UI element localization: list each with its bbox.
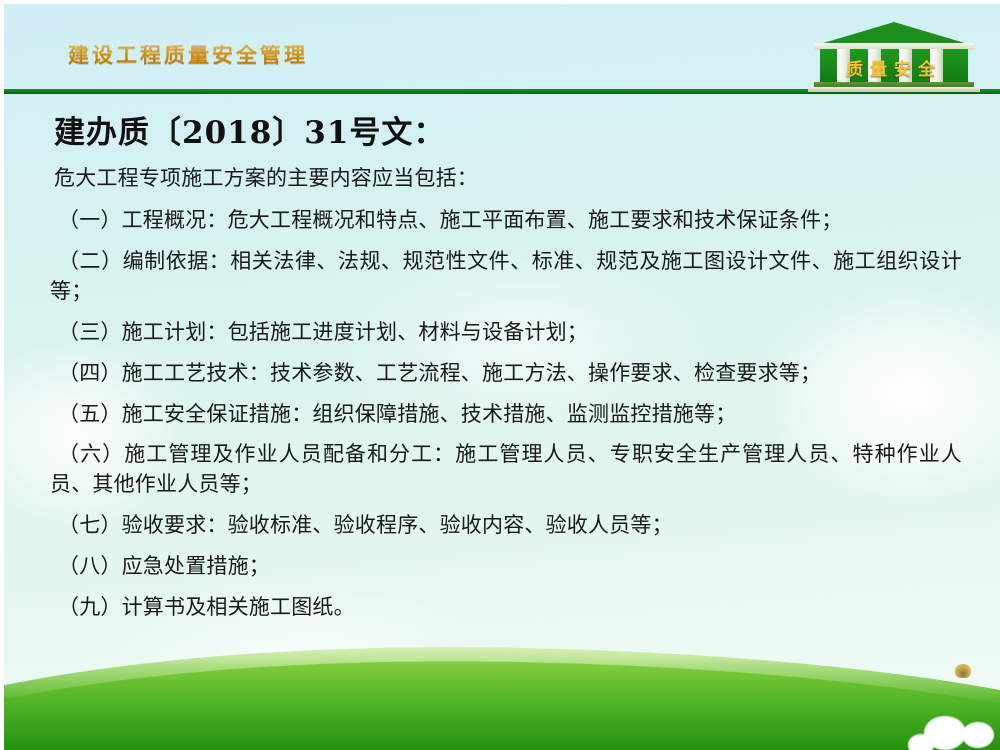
shrub-icon bbox=[955, 664, 971, 678]
flower-icon bbox=[908, 734, 934, 750]
temple-step-icon bbox=[808, 87, 980, 92]
page-title: 建办质〔2018〕31号文： bbox=[54, 114, 962, 153]
list-item: （六）施工管理及作业人员配备和分工：施工管理人员、专职安全生产管理人员、特种作业… bbox=[50, 440, 962, 500]
slide: 建设工程质量安全管理 质量安全 建办质〔2018〕31号文： 危大工程专项施工方… bbox=[0, 0, 1000, 750]
grass-decoration bbox=[0, 642, 1000, 750]
temple-pediment-icon bbox=[820, 22, 968, 44]
list-item: （四）施工工艺技术：技术参数、工艺流程、施工方法、操作要求、检查要求等； bbox=[50, 359, 962, 389]
list-item: （五）施工安全保证措施：组织保障措施、技术措施、监测监控措施等； bbox=[50, 400, 962, 430]
list-item: （八）应急处置措施； bbox=[50, 552, 962, 582]
list-item: （九）计算书及相关施工图纸。 bbox=[50, 593, 962, 623]
flower-icon bbox=[962, 722, 994, 748]
list-item: （二）编制依据：相关法律、法规、规范性文件、标准、规范及施工图设计文件、施工组织… bbox=[50, 247, 962, 307]
left-margin-edge bbox=[0, 0, 4, 750]
lead-paragraph: 危大工程专项施工方案的主要内容应当包括： bbox=[54, 165, 962, 193]
list-item: （七）验收要求：验收标准、验收程序、验收内容、验收人员等； bbox=[50, 511, 962, 541]
header-title: 建设工程质量安全管理 bbox=[68, 45, 308, 66]
list-item: （一）工程概况：危大工程概况和特点、施工平面布置、施工要求和技术保证条件； bbox=[50, 206, 962, 236]
list-item: （三）施工计划：包括施工进度计划、材料与设备计划； bbox=[50, 318, 962, 348]
slide-content: 建办质〔2018〕31号文： 危大工程专项施工方案的主要内容应当包括： （一）工… bbox=[50, 114, 962, 633]
quality-safety-logo: 质量安全 bbox=[806, 22, 982, 94]
logo-label: 质量安全 bbox=[820, 55, 968, 80]
grass-shape-icon bbox=[0, 642, 1000, 750]
top-margin-edge bbox=[0, 0, 1000, 4]
